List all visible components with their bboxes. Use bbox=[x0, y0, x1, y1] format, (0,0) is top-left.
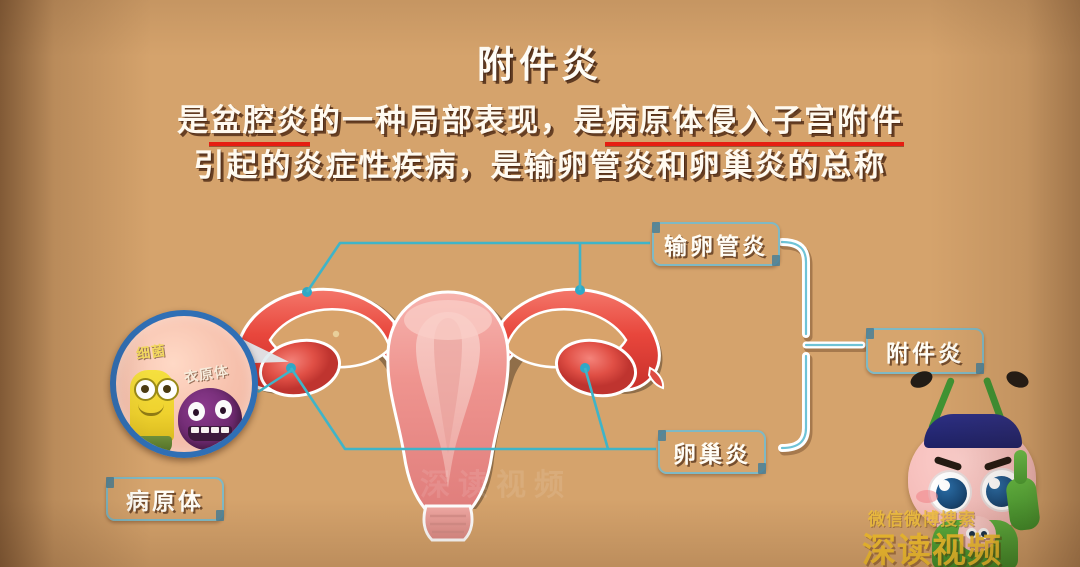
pathogen-magnifier: 细菌 衣原体 bbox=[110, 310, 258, 458]
chlamydia-eye-right bbox=[215, 400, 232, 419]
magnifier-lens: 细菌 衣原体 bbox=[110, 310, 258, 458]
infographic-canvas: 附件炎 是盆腔炎的一种局部表现，是病原体侵入子宫附件 引起的炎症性疾病，是输卵管… bbox=[0, 0, 1080, 567]
mascot-cap bbox=[924, 414, 1022, 448]
label-oophoritis[interactable]: 卵巢炎 bbox=[658, 430, 766, 474]
bacteria-eye-right bbox=[156, 378, 179, 401]
chlamydia-eye-left bbox=[188, 402, 205, 421]
bacteria-eye-left bbox=[134, 378, 157, 401]
channel-watermark: 微信微博搜索 深读视频 bbox=[862, 505, 1040, 563]
watermark-line-2: 深读视频 bbox=[862, 523, 1002, 567]
germ-label-bacteria: 细菌 bbox=[135, 340, 167, 364]
label-salpingitis[interactable]: 输卵管炎 bbox=[652, 222, 780, 266]
mascot-pointing-finger bbox=[1014, 450, 1027, 484]
label-adnexitis[interactable]: 附件炎 bbox=[866, 328, 984, 374]
mascot-cheek bbox=[916, 490, 938, 503]
antenna-tip-left bbox=[908, 368, 935, 391]
label-pathogen[interactable]: 病原体 bbox=[106, 477, 224, 521]
ghost-watermark: 深读视频 bbox=[420, 460, 572, 504]
bacteria-foot bbox=[132, 436, 172, 454]
antenna-tip-right bbox=[1004, 368, 1031, 391]
grouping-brace bbox=[782, 242, 864, 451]
germ-label-chlamydia: 衣原体 bbox=[183, 361, 231, 388]
chlamydia-teeth bbox=[188, 426, 232, 441]
